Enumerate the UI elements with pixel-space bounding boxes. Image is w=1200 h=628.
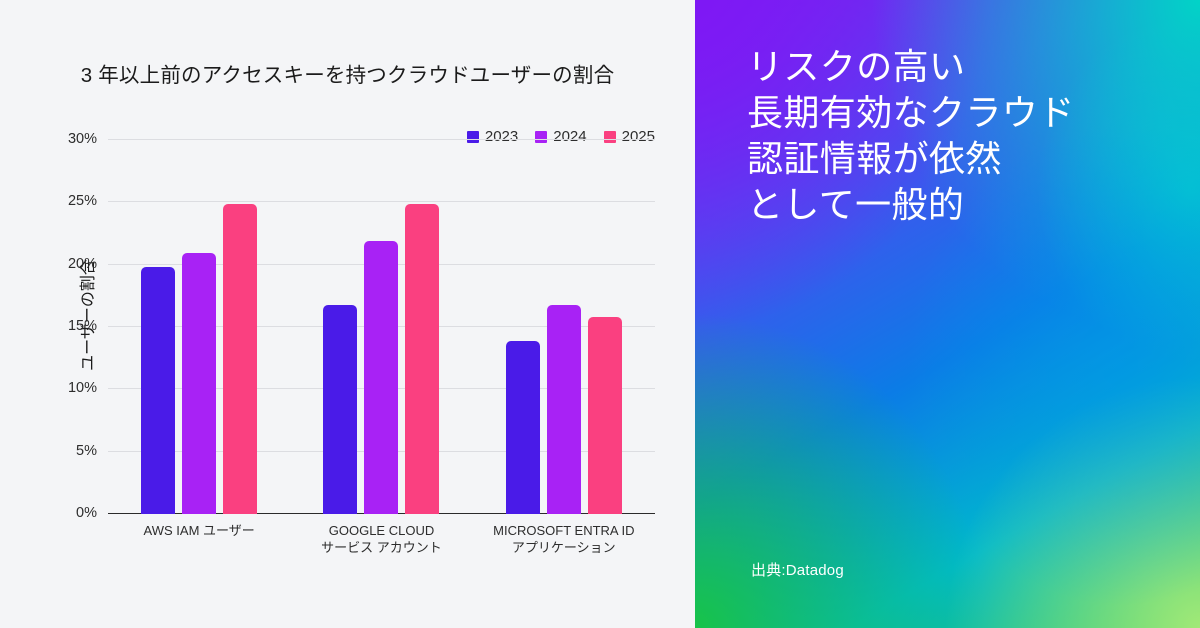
hero-headline-line-2: 長期有効なクラウド	[747, 90, 1177, 136]
bar-group: GOOGLE CLOUDサービス アカウント	[290, 140, 472, 514]
chart-panel: 3 年以上前のアクセスキーを持つクラウドユーザーの割合 ユーザーの割合 2023…	[0, 0, 695, 628]
x-axis-tick-label: AWS IAM ユーザー	[144, 523, 255, 540]
hero-panel: リスクの高い長期有効なクラウド認証情報が依然として一般的 出典:Datadog	[695, 0, 1200, 628]
x-axis-tick-label: MICROSOFT ENTRA IDアプリケーション	[493, 523, 634, 556]
y-axis-tick-label: 5%	[76, 443, 97, 459]
hero-source-attribution: 出典:Datadog	[751, 559, 844, 580]
bars	[323, 140, 439, 514]
y-axis-tick-label: 20%	[68, 256, 97, 272]
hero-headline-line-4: として一般的	[747, 182, 1177, 228]
y-axis-tick-label: 0%	[76, 505, 97, 521]
y-axis-title: ユーザーの割合	[74, 259, 98, 371]
x-axis-tick-line2: サービス アカウント	[321, 540, 442, 557]
x-axis-tick-line2: アプリケーション	[493, 540, 634, 557]
x-axis-tick-line1: GOOGLE CLOUD	[329, 523, 434, 538]
bar-2025[interactable]	[405, 204, 439, 514]
bar-2023[interactable]	[323, 305, 357, 514]
hero-headline-line-3: 認証情報が依然	[747, 136, 1177, 182]
bar-groups: AWS IAM ユーザーGOOGLE CLOUDサービス アカウントMICROS…	[108, 140, 655, 514]
bar-2024[interactable]	[547, 305, 581, 514]
bar-group: MICROSOFT ENTRA IDアプリケーション	[473, 140, 655, 514]
bar-2025[interactable]	[588, 317, 622, 514]
y-axis-tick-label: 30%	[68, 131, 97, 147]
bar-2024[interactable]	[364, 241, 398, 514]
x-axis-tick-label: GOOGLE CLOUDサービス アカウント	[321, 523, 442, 556]
hero-headline: リスクの高い長期有効なクラウド認証情報が依然として一般的	[747, 44, 1177, 228]
bars	[506, 140, 622, 514]
chart-title: 3 年以上前のアクセスキーを持つクラウドユーザーの割合	[0, 58, 695, 88]
plot-area: 30%25%20%15%10%5%0% AWS IAM ユーザーGOOGLE C…	[108, 140, 655, 514]
hero-headline-line-1: リスクの高い	[747, 44, 1177, 90]
x-axis-tick-line1: AWS IAM ユーザー	[144, 523, 255, 538]
x-axis-tick-line1: MICROSOFT ENTRA ID	[493, 523, 634, 538]
bar-2024[interactable]	[182, 253, 216, 514]
bars	[141, 140, 257, 514]
bar-2025[interactable]	[223, 204, 257, 514]
bar-2023[interactable]	[141, 267, 175, 514]
bar-2023[interactable]	[506, 341, 540, 514]
y-axis-tick-label: 25%	[68, 193, 97, 209]
y-axis-tick-label: 15%	[68, 318, 97, 334]
bar-group: AWS IAM ユーザー	[108, 140, 290, 514]
slide-root: 3 年以上前のアクセスキーを持つクラウドユーザーの割合 ユーザーの割合 2023…	[0, 0, 1200, 628]
y-axis-tick-label: 10%	[68, 380, 97, 396]
